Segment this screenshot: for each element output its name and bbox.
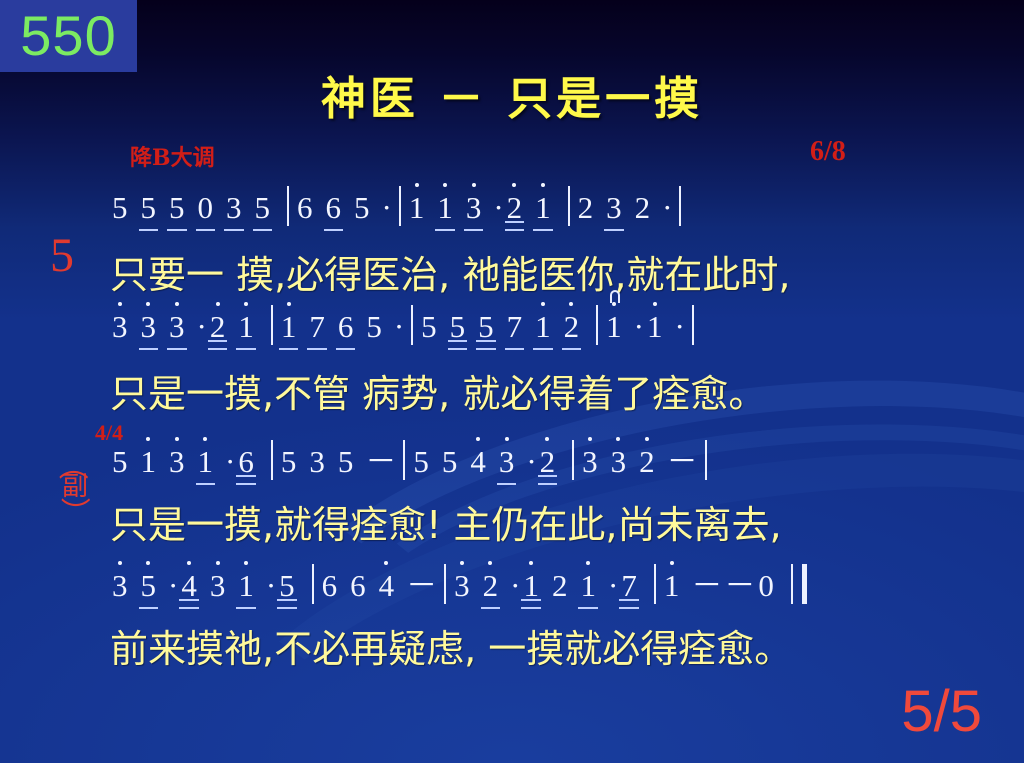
note: 5 [336, 444, 356, 480]
note: 5 [139, 190, 159, 226]
dot-duration: · [607, 568, 619, 604]
note: 3 [208, 568, 228, 604]
note: 7 [307, 309, 327, 345]
note: 4 [179, 568, 199, 604]
barline [271, 440, 273, 480]
dot-duration: · [673, 309, 685, 345]
dot-duration: · [167, 568, 179, 604]
lyric-row-3: 只是一摸,就得痊愈! 主仍在此,尚未离去, [110, 494, 990, 549]
note: 3 [167, 444, 187, 480]
note: 1 [279, 309, 299, 345]
note: 2 [633, 190, 653, 226]
note: 3 [307, 444, 327, 480]
barline [287, 186, 289, 226]
chorus-marker: （ 副 ） [52, 455, 98, 524]
note: 2 [562, 309, 582, 345]
note: 6 [324, 190, 344, 226]
dot-duration: · [633, 309, 645, 345]
note: 5 [364, 309, 384, 345]
dash-duration: － [723, 560, 756, 605]
notation-row-1: 555035665·113·21232· [110, 186, 990, 240]
note: 4 [468, 444, 488, 480]
note: 5 [139, 568, 159, 604]
note: 1 [662, 568, 682, 604]
dash-duration: － [364, 436, 397, 481]
barline [312, 564, 314, 604]
lyric-row-1: 只要一 摸,必得医治, 祂能医你,就在此时, [110, 244, 990, 299]
dot-duration: · [525, 444, 537, 480]
note: 6 [295, 190, 315, 226]
dot-duration: · [661, 190, 673, 226]
note: 2 [538, 444, 558, 480]
song-title: 神医 － 只是一摸 [0, 62, 1024, 127]
note: 1 [196, 444, 216, 480]
note: 5 [110, 190, 130, 226]
lyric-row-4: 前来摸祂,不必再疑虑, 一摸就必得痊愈。 [110, 618, 990, 673]
dash-duration: － [405, 560, 438, 605]
dash-duration: － [666, 436, 699, 481]
note: 3 [497, 444, 517, 480]
note: 3 [452, 568, 472, 604]
note: 5 [110, 444, 130, 480]
dot-duration: · [509, 568, 521, 604]
note: 3 [609, 444, 629, 480]
note: 3 [110, 309, 130, 345]
tie-slur: 1 [604, 309, 624, 345]
note: 2 [576, 190, 596, 226]
music-system-1: 555035665·113·21232· 只要一 摸,必得医治, 祂能医你,就在… [110, 186, 990, 299]
note: 1 [407, 190, 427, 226]
barline [654, 564, 656, 604]
music-system-2: 333·211765·5557121·1· 只是一摸,不管 病势, 就必得着了痊… [110, 305, 990, 418]
note: 7 [505, 309, 525, 345]
note: 1 [236, 568, 256, 604]
note: 5 [448, 309, 468, 345]
note: 1 [533, 190, 553, 226]
note: 3 [224, 190, 244, 226]
note: 1 [578, 568, 598, 604]
verse-number: 5 [50, 228, 74, 283]
note: 2 [505, 190, 525, 226]
dot-duration: · [381, 190, 393, 226]
note: 7 [619, 568, 639, 604]
note: 1 [645, 309, 665, 345]
barline [403, 440, 405, 480]
chorus-marker-close: ） [63, 489, 87, 535]
barline [444, 564, 446, 604]
music-system-3: 5131·6535－5543·2332－ 只是一摸,就得痊愈! 主仍在此,尚未离… [110, 436, 990, 549]
note: 3 [580, 444, 600, 480]
note: 5 [476, 309, 496, 345]
note: 3 [110, 568, 130, 604]
barline [705, 440, 707, 480]
note: 1 [521, 568, 541, 604]
note: 6 [336, 309, 356, 345]
dot-duration: · [393, 309, 405, 345]
dot-duration: · [265, 568, 277, 604]
notation-row-2: 333·211765·5557121·1· [110, 305, 990, 359]
note: 3 [464, 190, 484, 226]
dash-duration: － [690, 560, 723, 605]
note: 1 [139, 444, 159, 480]
song-slide: 550 神医 － 只是一摸 降B大调 6/8 4/4 5 （ 副 ） 55503… [0, 0, 1024, 763]
barline [411, 305, 413, 345]
final-barline [791, 564, 807, 604]
dot-duration: · [492, 190, 504, 226]
note: 5 [440, 444, 460, 480]
note: 5 [419, 309, 439, 345]
note: 5 [352, 190, 372, 226]
music-system-4: 35·431·5664－32·121·71－－0 前来摸祂,不必再疑虑, 一摸就… [110, 560, 990, 673]
hymn-number: 550 [20, 8, 116, 64]
note: 6 [320, 568, 340, 604]
dot-duration: · [224, 444, 236, 480]
note: 1 [435, 190, 455, 226]
notation-row-3: 5131·6535－5543·2332－ [110, 436, 990, 490]
note: 2 [208, 309, 228, 345]
note: 3 [604, 190, 624, 226]
note: 0 [756, 568, 776, 604]
note: 3 [167, 309, 187, 345]
note: 3 [139, 309, 159, 345]
barline [679, 186, 681, 226]
note: 4 [377, 568, 397, 604]
barline [568, 186, 570, 226]
lyric-row-2: 只是一摸,不管 病势, 就必得着了痊愈。 [110, 363, 990, 418]
note: 0 [196, 190, 216, 226]
barline [572, 440, 574, 480]
chorus-marker-open: （ [65, 442, 85, 488]
barline [271, 305, 273, 345]
note: 2 [481, 568, 501, 604]
note: 6 [348, 568, 368, 604]
note: 1 [604, 309, 624, 345]
note: 1 [236, 309, 256, 345]
note: 5 [277, 568, 297, 604]
note: 5 [167, 190, 187, 226]
dot-duration: · [196, 309, 208, 345]
barline [399, 186, 401, 226]
notation-row-4: 35·431·5664－32·121·71－－0 [110, 560, 990, 614]
key-signature-label: 降B大调 [130, 140, 215, 172]
note: 6 [236, 444, 256, 480]
note: 5 [411, 444, 431, 480]
barline [692, 305, 694, 345]
time-signature-verse: 6/8 [810, 136, 846, 168]
note: 5 [253, 190, 273, 226]
barline [596, 305, 598, 345]
note: 1 [533, 309, 553, 345]
page-count: 5/5 [901, 678, 982, 745]
note: 2 [637, 444, 657, 480]
note: 2 [550, 568, 570, 604]
note: 5 [279, 444, 299, 480]
